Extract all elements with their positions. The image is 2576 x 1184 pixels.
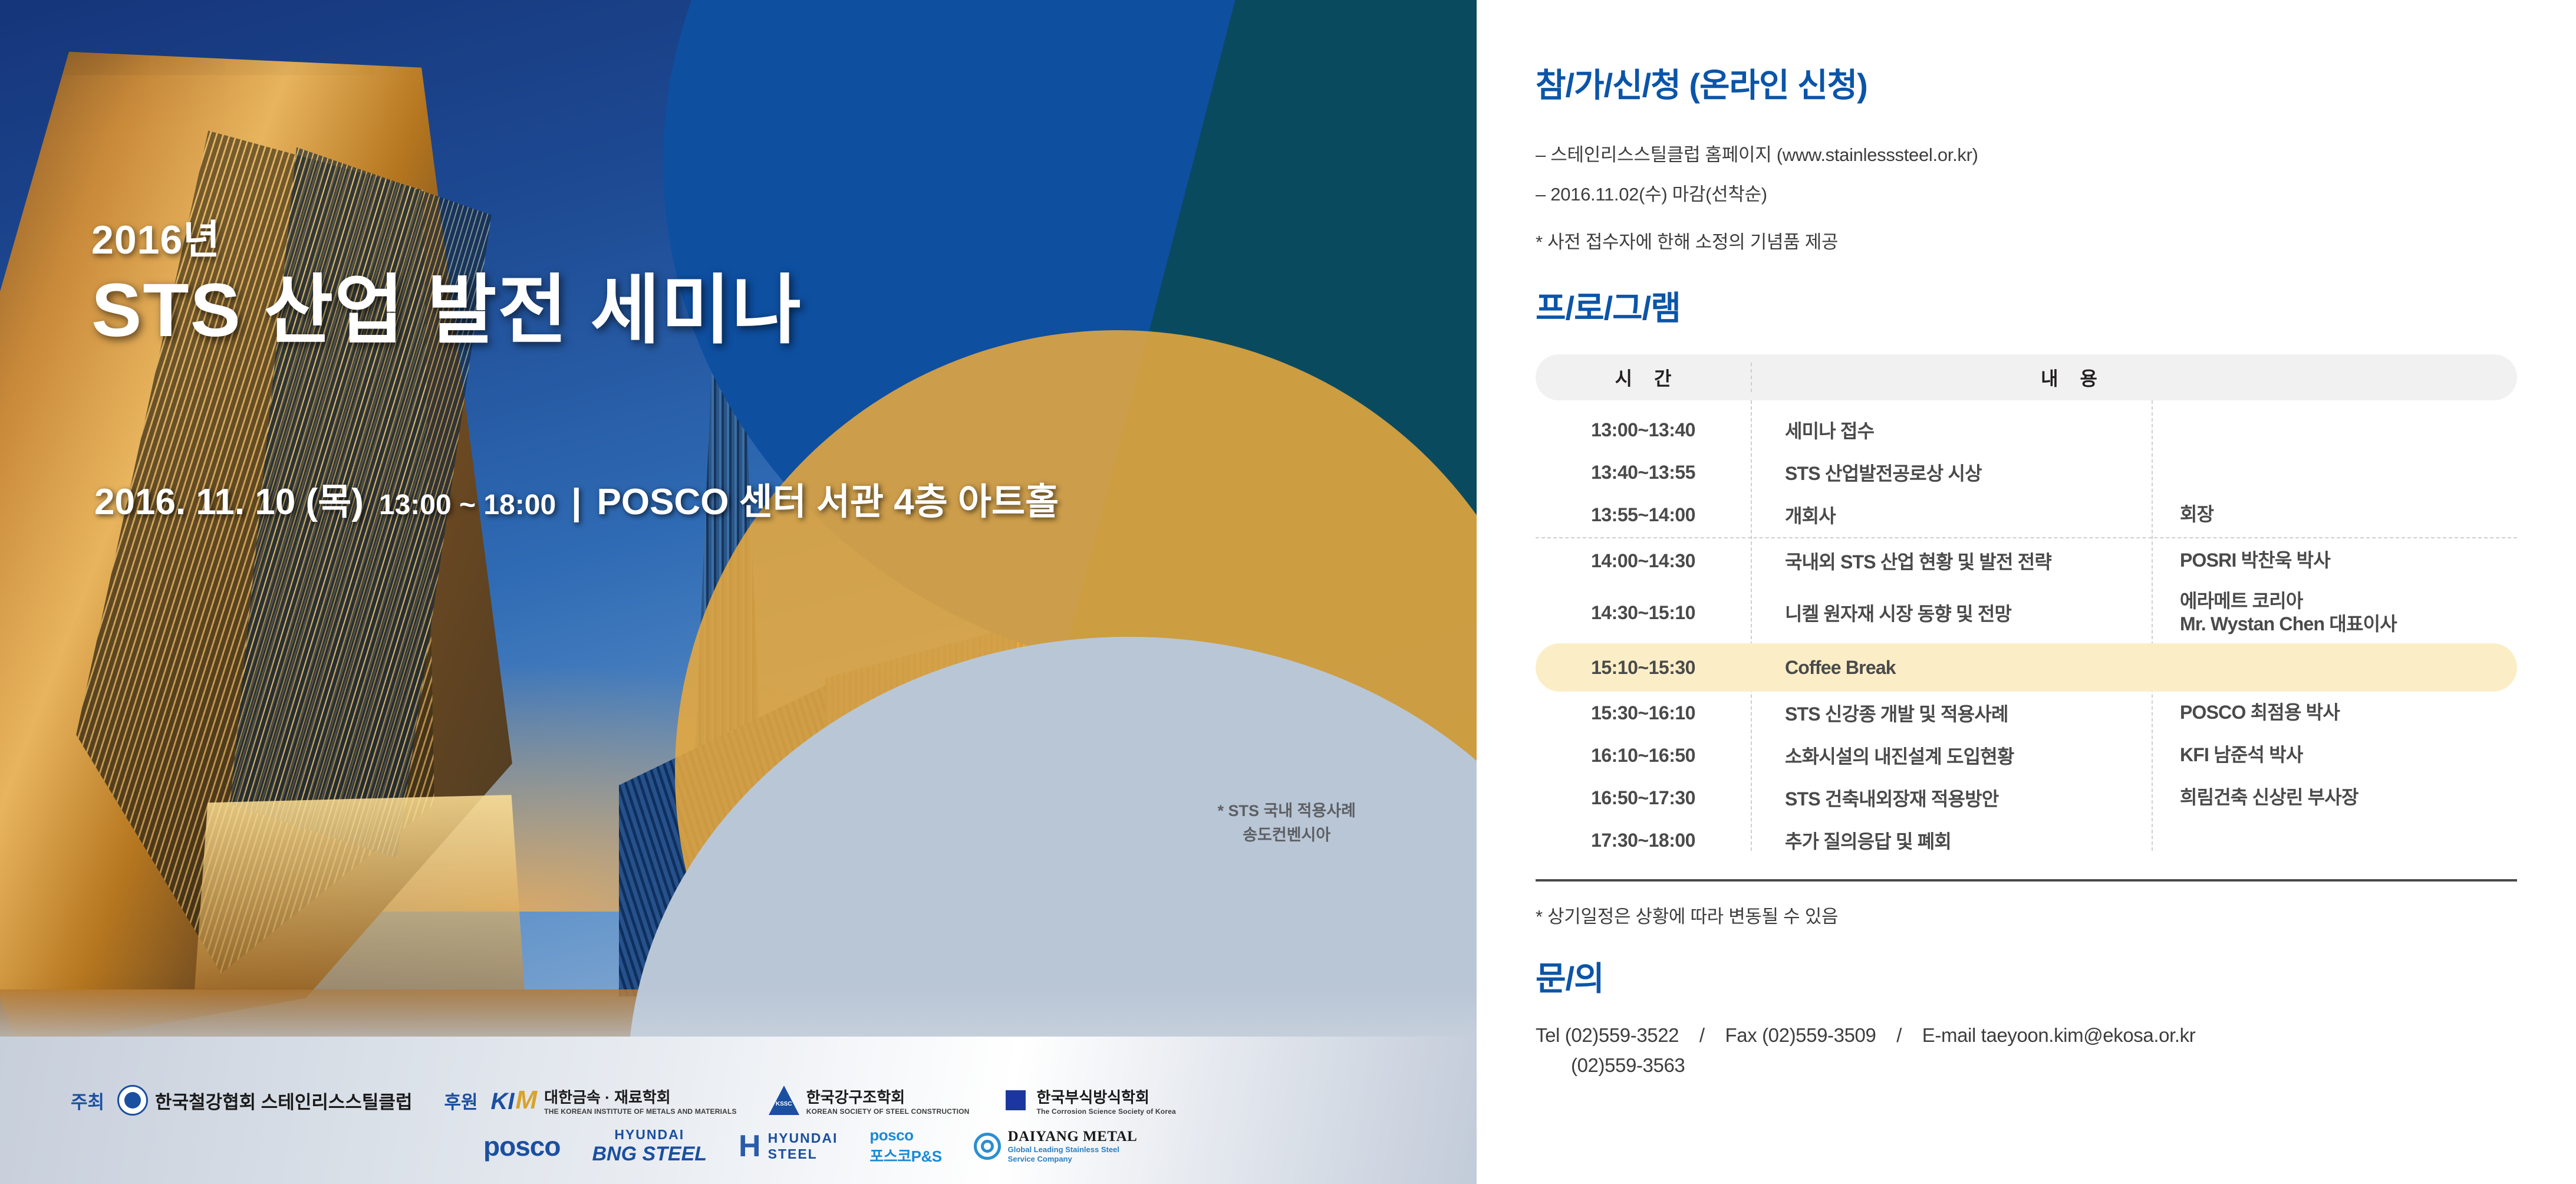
hero-year: 2016년 — [91, 218, 802, 262]
logo-hyundai-steel: H HYUNDAI STEEL — [739, 1130, 838, 1162]
program-row-speaker: 희림건축 신상린 부사장 — [2152, 786, 2517, 809]
application-bullets: – 스테인리스스틸클럽 홈페이지 (www.stainlesssteel.or.… — [1536, 134, 2517, 206]
application-note: * 사전 접수자에 한해 소정의 기념품 제공 — [1536, 227, 2517, 254]
kssc-name-en: KOREAN SOCIETY OF STEEL CONSTRUCTION — [806, 1107, 970, 1116]
sponsor-row-organizers: 주최 한국철강협회 스테인리스스틸클럽 후원 KIM 대한금속 · 재료학회 T… — [71, 1085, 1406, 1116]
hero-venue: POSCO 센터 서관 4층 아트홀 — [597, 482, 1059, 522]
hyundai-bottom: STEEL — [768, 1146, 838, 1162]
program-row-title: 소화시설의 내진설계 도입현황 — [1751, 742, 2152, 769]
program-row-time: 15:10~15:30 — [1536, 657, 1751, 679]
kssc-name-ko: 한국강구조학회 — [806, 1086, 970, 1107]
table-bottom-rule — [1536, 879, 2517, 882]
section-application: 참/가/신/청 (온라인 신청) – 스테인리스스틸클럽 홈페이지 (www.s… — [1477, 59, 2576, 254]
cssk-name-ko: 한국부식방식학회 — [1037, 1086, 1176, 1107]
program-row-title: Coffee Break — [1751, 657, 2152, 679]
column-header-content: 내 용 — [1751, 364, 2517, 391]
kosa-seal-icon — [117, 1085, 148, 1116]
section-program: 프/로/그/램 시 간 내 용 13:00~13:40세미나 접수13:40~1… — [1477, 282, 2576, 928]
contact-line-primary: Tel (02)559-3522 / Fax (02)559-3509 / E-… — [1536, 1020, 2517, 1050]
hero-time: 13:00 ~ 18:00 — [379, 489, 556, 521]
cssk-name-en: The Corrosion Science Society of Korea — [1037, 1107, 1176, 1116]
program-section-divider — [1536, 537, 2517, 538]
program-row: 14:00~14:30국내외 STS 산업 현황 및 발전 전략POSRI 박찬… — [1536, 540, 2517, 582]
support-label: 후원 — [444, 1087, 477, 1114]
program-row-title: 개회사 — [1751, 501, 2152, 528]
host-name: 한국철강협회 스테인리스스틸클럽 — [155, 1087, 412, 1114]
photo-caption-line1: * STS 국내 적용사례 — [1217, 799, 1356, 823]
logo-cssk: 한국부식방식학회 The Corrosion Science Society o… — [1002, 1086, 1176, 1116]
posco-wordmark: posco — [483, 1130, 560, 1162]
program-table-header: 시 간 내 용 — [1536, 354, 2517, 400]
hyundai-h-icon: H — [739, 1133, 761, 1159]
cssk-diamond-icon — [996, 1080, 1036, 1120]
hero-divider: | — [571, 482, 581, 522]
hero-text-block: 2016년 STS 산업 발전 세미나 — [91, 218, 802, 354]
program-row: 16:50~17:30STS 건축내외장재 적용방안희림건축 신상린 부사장 — [1536, 777, 2517, 819]
header-column-divider — [1751, 363, 1752, 392]
program-row: 14:30~15:10니켈 원자재 시장 동향 및 전망에라메트 코리아 Mr.… — [1536, 582, 2517, 643]
poster-root: 2016년 STS 산업 발전 세미나 2016. 11. 10 (목)13:0… — [0, 0, 2576, 1184]
photo-caption: * STS 국내 적용사례 송도컨벤시아 — [1217, 799, 1356, 847]
program-row-time: 15:30~16:10 — [1536, 702, 1751, 724]
tel-value: (02)559-3522 — [1565, 1024, 1679, 1046]
program-row-speaker: POSCO 최점용 박사 — [2152, 701, 2517, 724]
program-row: 15:30~16:10STS 신강종 개발 및 적용사례POSCO 최점용 박사 — [1536, 692, 2517, 734]
hyundai-top: HYUNDAI — [768, 1130, 838, 1146]
host-label: 주최 — [71, 1087, 104, 1114]
program-row-time: 16:10~16:50 — [1536, 745, 1751, 767]
contact-separator-2: / — [1896, 1024, 1902, 1046]
application-heading: 참/가/신/청 (온라인 신청) — [1536, 59, 2517, 107]
program-row-title: 세미나 접수 — [1751, 416, 2152, 443]
program-row-time: 13:00~13:40 — [1536, 419, 1751, 441]
sponsors-block: 주최 한국철강협회 스테인리스스틸클럽 후원 KIM 대한금속 · 재료학회 T… — [0, 1085, 1477, 1166]
program-row-title: STS 건축내외장재 적용방안 — [1751, 784, 2152, 811]
program-row-speaker: 에라메트 코리아 Mr. Wystan Chen 대표이사 — [2152, 590, 2517, 636]
posco-pns-top: posco — [869, 1126, 941, 1144]
program-row-speaker: KFI 남준석 박사 — [2152, 744, 2517, 767]
logo-bng-steel: HYUNDAI BNG STEEL — [592, 1127, 707, 1166]
hero-subtitle: 2016. 11. 10 (목)13:00 ~ 18:00|POSCO 센터 서… — [94, 472, 1059, 525]
fax-label: Fax — [1725, 1024, 1757, 1046]
hero-title: STS 산업 발전 세미나 — [91, 267, 802, 354]
bng-bottom: BNG STEEL — [592, 1143, 707, 1166]
logo-posco-pns: posco 포스코P&S — [869, 1126, 941, 1166]
kim-name-en: THE KOREAN INSTITUTE OF METALS AND MATER… — [544, 1107, 737, 1116]
posco-pns-bottom: 포스코P&S — [869, 1144, 941, 1166]
hero-image-panel: 2016년 STS 산업 발전 세미나 2016. 11. 10 (목)13:0… — [0, 0, 1477, 1184]
program-row-time: 16:50~17:30 — [1536, 787, 1751, 809]
program-table-body: 13:00~13:40세미나 접수13:40~13:55STS 산업발전공로상 … — [1536, 400, 2517, 861]
program-row-title: STS 산업발전공로상 시상 — [1751, 459, 2152, 486]
daiyang-target-icon — [974, 1133, 1001, 1160]
fax-value: (02)559-3509 — [1762, 1024, 1876, 1046]
program-row-title: 국내외 STS 산업 현황 및 발전 전략 — [1751, 547, 2152, 574]
program-row-speaker: POSRI 박찬욱 박사 — [2152, 549, 2517, 572]
program-footnote: * 상기일정은 상황에 따라 변동될 수 있음 — [1536, 902, 2517, 928]
column-header-time: 시 간 — [1536, 364, 1751, 391]
program-row-time: 13:55~14:00 — [1536, 504, 1751, 526]
photo-caption-line2: 송도컨벤시아 — [1217, 823, 1356, 847]
contact-lines: Tel (02)559-3522 / Fax (02)559-3509 / E-… — [1536, 1020, 2517, 1080]
program-row-speaker: 회장 — [2152, 503, 2517, 526]
logo-posco: posco — [483, 1130, 560, 1162]
entrance-lightbox — [195, 795, 525, 989]
application-bullet-website: – 스테인리스스틸클럽 홈페이지 (www.stainlesssteel.or.… — [1536, 140, 2517, 166]
program-row-time: 13:40~13:55 — [1536, 462, 1751, 484]
program-row: 13:40~13:55STS 산업발전공로상 시상 — [1536, 451, 2517, 494]
sponsor-row-companies: posco HYUNDAI BNG STEEL H HYUNDAI STEEL — [71, 1126, 1406, 1166]
contact-line-secondary: (02)559-3563 — [1536, 1050, 2517, 1080]
program-table: 시 간 내 용 13:00~13:40세미나 접수13:40~13:55STS … — [1536, 354, 2517, 928]
bng-top: HYUNDAI — [614, 1127, 684, 1143]
program-row-time: 17:30~18:00 — [1536, 830, 1751, 851]
logo-kosa-stainless-steel-club: 한국철강협회 스테인리스스틸클럽 — [117, 1085, 412, 1116]
program-row: 13:00~13:40세미나 접수 — [1536, 409, 2517, 451]
logo-kim: KIM 대한금속 · 재료학회 THE KOREAN INSTITUTE OF … — [491, 1086, 737, 1116]
program-row-time: 14:30~15:10 — [1536, 602, 1751, 624]
kim-name-ko: 대한금속 · 재료학회 — [544, 1086, 737, 1107]
program-row: 16:10~16:50소화시설의 내진설계 도입현황KFI 남준석 박사 — [1536, 734, 2517, 777]
daiyang-name: DAIYANG METAL — [1008, 1129, 1138, 1145]
program-row-title: 추가 질의응답 및 폐회 — [1751, 827, 2152, 854]
program-row-title: STS 신강종 개발 및 적용사례 — [1751, 699, 2152, 726]
program-row-time: 14:00~14:30 — [1536, 550, 1751, 572]
kssc-triangle-icon — [769, 1086, 799, 1115]
logo-daiyang-metal: DAIYANG METAL Global Leading Stainless S… — [974, 1129, 1138, 1165]
contact-heading: 문/의 — [1536, 952, 2517, 1000]
hero-date: 2016. 11. 10 (목) — [94, 482, 364, 522]
tel-label: Tel — [1536, 1024, 1560, 1046]
info-panel: 참/가/신/청 (온라인 신청) – 스테인리스스틸클럽 홈페이지 (www.s… — [1477, 0, 2576, 1184]
email-label: E-mail — [1922, 1024, 1976, 1046]
program-row: 17:30~18:00추가 질의응답 및 폐회 — [1536, 819, 2517, 861]
program-row-title: 니켈 원자재 시장 동향 및 전망 — [1751, 599, 2152, 626]
section-contact: 문/의 Tel (02)559-3522 / Fax (02)559-3509 … — [1477, 952, 2576, 1080]
application-bullet-deadline: – 2016.11.02(수) 마감(선착순) — [1536, 179, 2517, 206]
program-heading: 프/로/그/램 — [1536, 282, 2517, 330]
program-row: 13:55~14:00개회사회장 — [1536, 494, 2517, 536]
daiyang-tagline: Global Leading Stainless Steel Service C… — [1008, 1145, 1138, 1165]
contact-separator-1: / — [1699, 1024, 1705, 1046]
kim-mark-icon: KIM — [491, 1088, 538, 1112]
program-row: 15:10~15:30Coffee Break — [1536, 643, 2517, 692]
email-value[interactable]: taeyoon.kim@ekosa.or.kr — [1981, 1024, 2196, 1046]
logo-kssc: 한국강구조학회 KOREAN SOCIETY OF STEEL CONSTRUC… — [769, 1086, 970, 1116]
